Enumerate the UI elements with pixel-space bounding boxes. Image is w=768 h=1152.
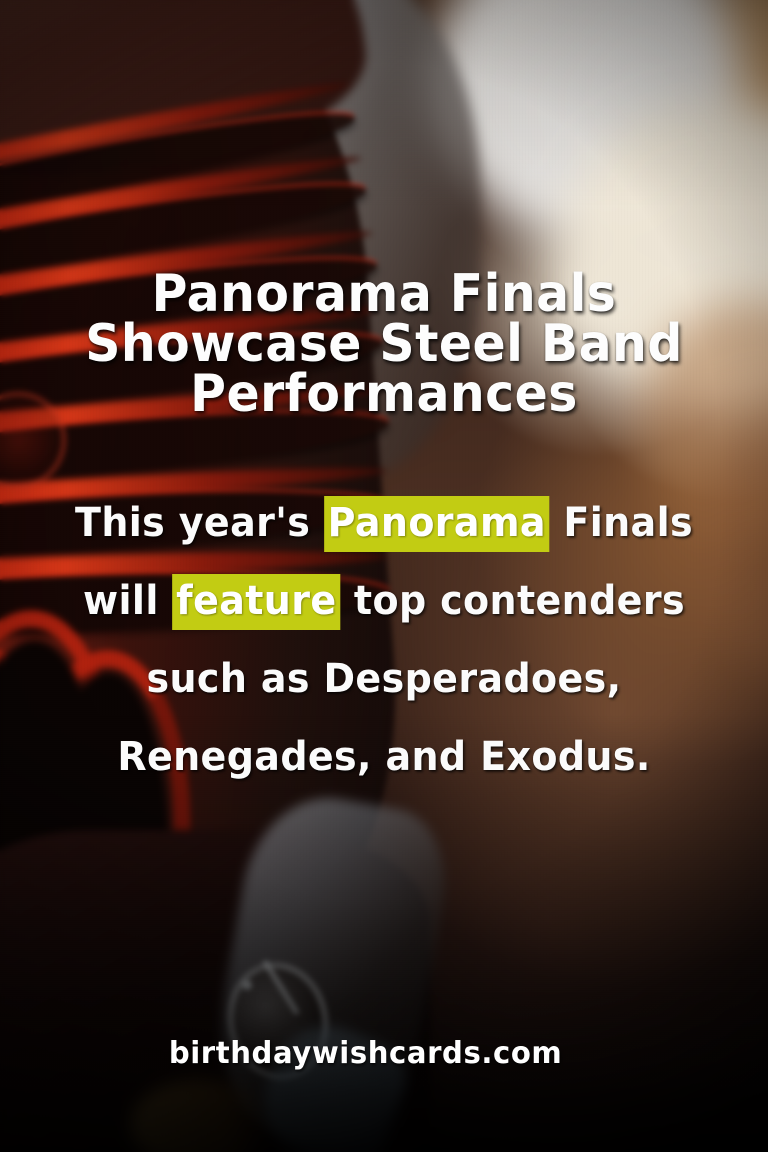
body-text-segment: Finals xyxy=(550,500,693,546)
body-text-segment: will xyxy=(83,578,172,624)
body-line-1: This year's Panorama Finals xyxy=(46,484,722,562)
card-content: Panorama Finals Showcase Steel Band Perf… xyxy=(0,0,768,1152)
body-text: This year's Panorama Finals will feature… xyxy=(19,484,749,796)
headline-line-1: Panorama Finals xyxy=(47,270,720,320)
highlighted-word-panorama: Panorama xyxy=(324,496,550,552)
quote-card: Panorama Finals Showcase Steel Band Perf… xyxy=(0,0,768,1152)
footer-website: birthdaywishcards.com xyxy=(12,1036,757,1071)
body-text-segment: This year's xyxy=(75,500,324,546)
body-line-3: such as Desperadoes, xyxy=(46,640,722,718)
body-line-2: will feature top contenders xyxy=(46,562,722,640)
headline: Panorama Finals Showcase Steel Band Perf… xyxy=(23,270,745,420)
body-line-4: Renegades, and Exodus. xyxy=(46,718,722,796)
headline-line-2: Showcase Steel Band xyxy=(47,320,720,370)
headline-line-3: Performances xyxy=(47,370,720,420)
body-text-segment: top contenders xyxy=(340,578,685,624)
highlighted-word-feature: feature xyxy=(172,574,340,630)
